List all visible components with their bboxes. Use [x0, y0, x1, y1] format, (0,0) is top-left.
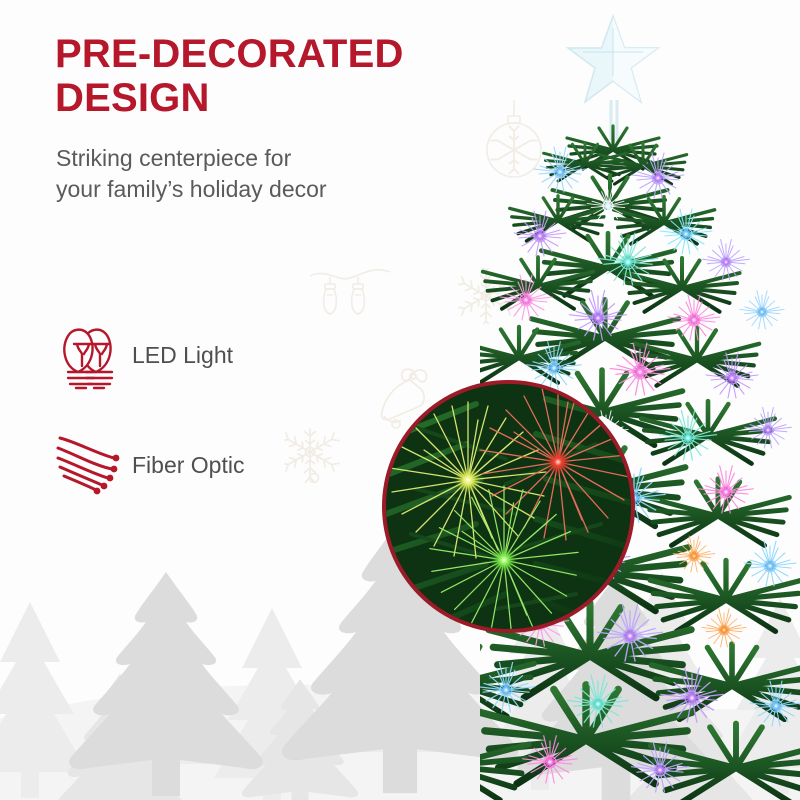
- feature-label: Fiber Optic: [132, 452, 244, 478]
- page-title: PRE-DECORATED DESIGN: [55, 32, 495, 120]
- watermark-snowflake-left: [284, 428, 340, 490]
- feature-label: LED Light: [132, 342, 233, 368]
- star-topper: [568, 16, 658, 102]
- headline-block: PRE-DECORATED DESIGN: [55, 32, 495, 120]
- product-feature-banner: PRE-DECORATED DESIGN Striking centerpiec…: [0, 0, 800, 800]
- feature-fiber-optic: Fiber Optic: [46, 432, 244, 498]
- fiber-optic-closeup-inset: [382, 380, 635, 633]
- subtitle-text: Striking centerpiece for your family’s h…: [56, 143, 456, 205]
- led-bulbs-icon: [46, 318, 132, 392]
- fiber-optic-strands-icon: [46, 432, 132, 498]
- feature-led-light: LED Light: [46, 318, 233, 392]
- watermark-string-lights: [310, 266, 390, 336]
